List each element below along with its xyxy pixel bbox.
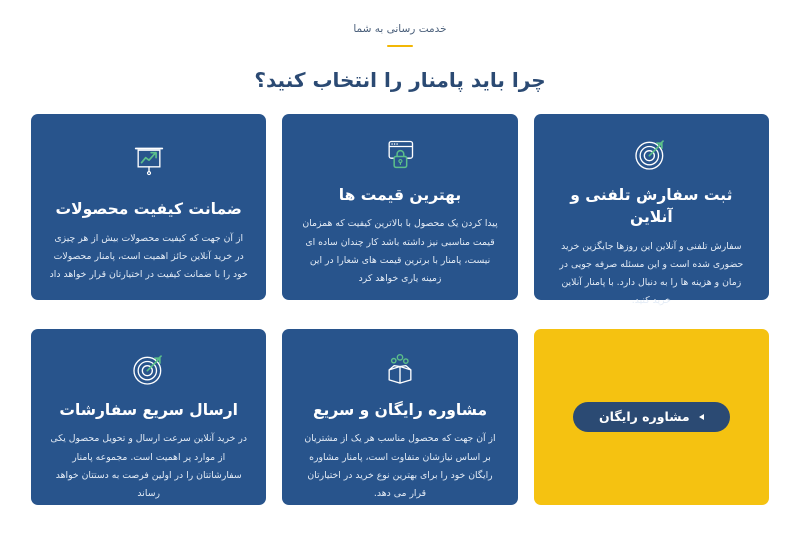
feature-cards-grid: ثبت سفارش تلفنی و آنلاین سفارش تلفنی و آ…	[31, 114, 769, 505]
card-body: در خرید آنلاین سرعت ارسال و تحویل محصول …	[49, 430, 249, 503]
browser-lock-icon	[380, 134, 420, 174]
card-body: پیدا کردن یک محصول با بالاترین کیفیت که …	[300, 215, 500, 288]
feature-card-quality-guarantee[interactable]: ضمانت کیفیت محصولات از آن جهت که کیفیت م…	[31, 114, 266, 300]
section-header: خدمت رسانی به شما چرا باید پامنار را انت…	[0, 0, 800, 94]
card-body: از آن جهت که کیفیت محصولات بیش از هر چیز…	[49, 230, 249, 284]
open-box-icon	[380, 349, 420, 389]
free-consultation-button[interactable]: مشاوره رایگان	[573, 402, 730, 433]
free-consultation-cta-card[interactable]: مشاوره رایگان	[534, 329, 769, 505]
card-title: مشاوره رایگان و سریع	[313, 399, 487, 421]
section-eyebrow: خدمت رسانی به شما	[0, 23, 800, 36]
page-title: چرا باید پامنار را انتخاب کنید؟	[0, 67, 800, 94]
card-body: سفارش تلفنی و آنلاین این روزها جایگزین خ…	[551, 238, 751, 311]
card-title: ارسال سریع سفارشات	[59, 399, 238, 421]
arrow-left-icon	[699, 414, 704, 420]
section-divider	[387, 45, 413, 48]
feature-card-best-prices[interactable]: بهترین قیمت ها پیدا کردن یک محصول با بال…	[282, 114, 517, 300]
feature-card-order-phone-online[interactable]: ثبت سفارش تلفنی و آنلاین سفارش تلفنی و آ…	[534, 114, 769, 300]
page-root: خدمت رسانی به شما چرا باید پامنار را انت…	[0, 0, 800, 542]
card-body: از آن جهت که محصول مناسب هر یک از مشتریا…	[300, 430, 500, 503]
target-dart-icon	[129, 349, 169, 389]
target-dart-icon	[631, 134, 671, 174]
card-title: ضمانت کیفیت محصولات	[56, 198, 242, 220]
card-title: ثبت سفارش تلفنی و آنلاین	[550, 184, 753, 229]
card-title: بهترین قیمت ها	[339, 184, 461, 206]
feature-card-free-fast-consultation[interactable]: مشاوره رایگان و سریع از آن جهت که محصول …	[282, 329, 517, 505]
feature-card-fast-order-delivery[interactable]: ارسال سریع سفارشات در خرید آنلاین سرعت ا…	[31, 329, 266, 505]
cta-button-label: مشاوره رایگان	[599, 411, 690, 424]
presentation-chart-icon	[129, 134, 169, 188]
